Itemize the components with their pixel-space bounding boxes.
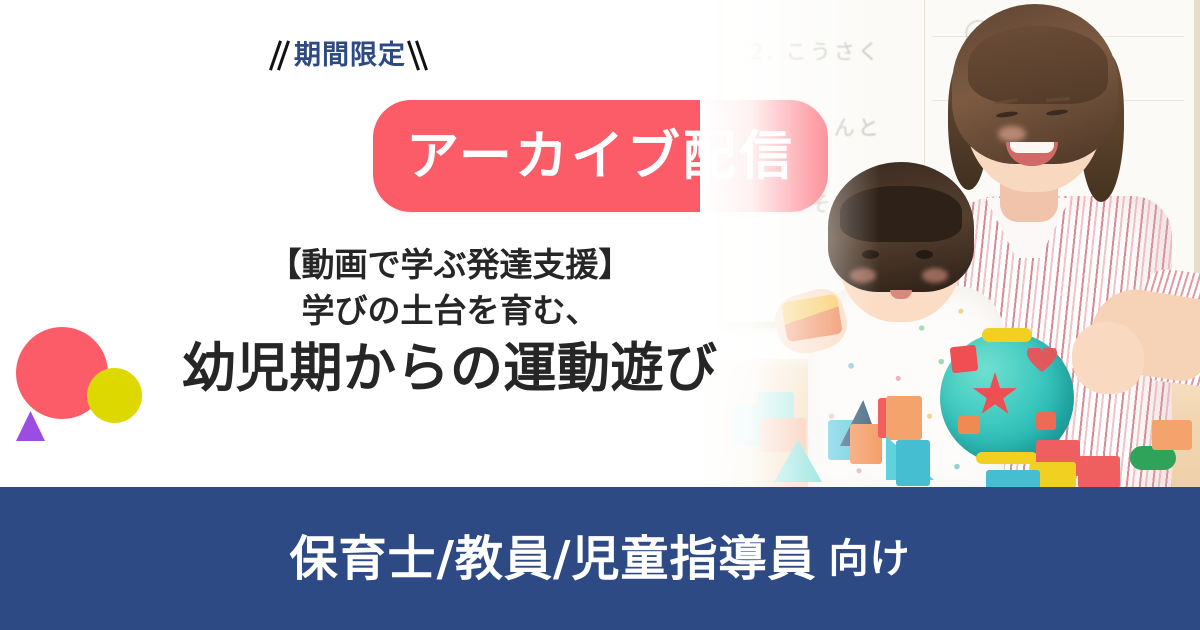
slash-left-icon bbox=[272, 38, 290, 72]
teacher-bangs bbox=[968, 26, 1108, 104]
purple-triangle-decoration bbox=[16, 411, 45, 441]
ball-slot-right bbox=[1036, 412, 1056, 430]
headline-line-2: 学びの土台を育む、 bbox=[0, 289, 900, 333]
eyebrow-label: 期間限定 bbox=[294, 42, 406, 69]
ball-bottom-band bbox=[976, 452, 1038, 464]
eyebrow: 期間限定 bbox=[0, 36, 700, 74]
audience-bar: 保育士/教員/児童指導員 向け bbox=[0, 487, 1200, 630]
toy-block bbox=[986, 470, 1040, 487]
child-cheek-right bbox=[922, 268, 948, 283]
toy-block bbox=[1078, 456, 1120, 487]
slash-right-icon bbox=[410, 38, 428, 72]
badge-label: アーカイブ配信 bbox=[406, 130, 795, 183]
ball-slot-left bbox=[958, 416, 980, 434]
archive-delivery-badge: アーカイブ配信 bbox=[373, 100, 828, 212]
child-bangs bbox=[840, 186, 962, 242]
headline: 【動画で学ぶ発達支援】 学びの土台を育む、 幼児期からの運動遊び bbox=[0, 243, 900, 401]
toy-block bbox=[886, 396, 922, 440]
ball-square-slot bbox=[950, 345, 979, 374]
audience-label: 保育士/教員/児童指導員 bbox=[289, 535, 816, 583]
toy-block bbox=[1152, 420, 1192, 450]
toy-block bbox=[896, 440, 930, 486]
child-eye-right bbox=[916, 250, 933, 259]
teacher-teeth bbox=[1010, 142, 1054, 153]
ball-top-band bbox=[982, 328, 1032, 342]
teacher-hand bbox=[1072, 322, 1144, 394]
teacher-cheek bbox=[998, 126, 1026, 142]
headline-line-3: 幼児期からの運動遊び bbox=[0, 338, 900, 401]
seminar-banner: 2. こうさく 3. ぷりんと 4. あそび ◯ bbox=[0, 0, 1200, 630]
headline-line-1: 【動画で学ぶ発達支援】 bbox=[0, 243, 900, 287]
whiteboard-line-1: 2. こうさく bbox=[750, 36, 882, 66]
audience-suffix: 向け bbox=[829, 539, 911, 579]
